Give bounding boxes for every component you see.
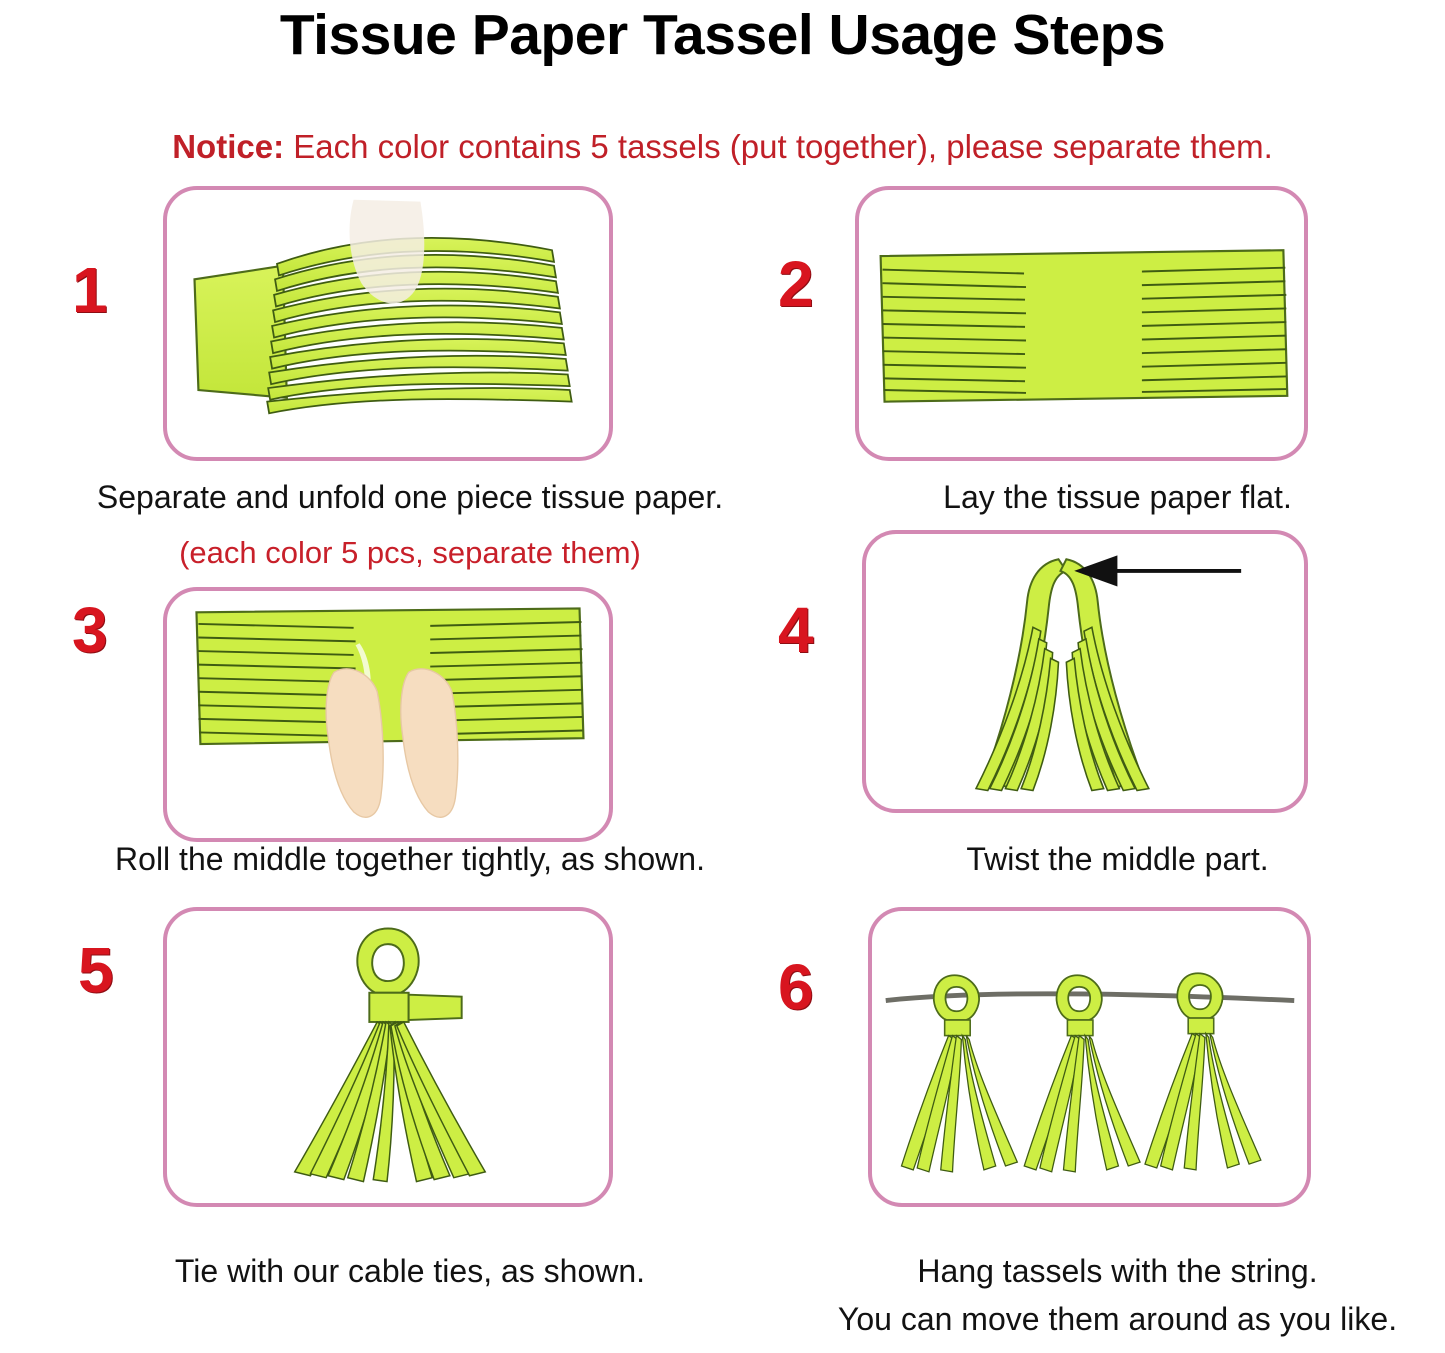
step-4-illustration-panel bbox=[862, 530, 1308, 813]
folded-tassel-with-loop-icon bbox=[866, 534, 1304, 809]
step-1-sub-caption: (each color 5 pcs, separate them) bbox=[0, 534, 820, 572]
notice-line: Notice: Each color contains 5 tassels (p… bbox=[0, 128, 1445, 166]
flat-fringed-paper-icon bbox=[859, 190, 1304, 457]
right-hand-icon bbox=[401, 669, 458, 817]
step-number-6: 6 bbox=[778, 955, 814, 1019]
step-number-3: 3 bbox=[72, 598, 108, 662]
notice-label: Notice: bbox=[172, 128, 284, 165]
tied-tassel-icon bbox=[167, 911, 609, 1203]
step-number-2: 2 bbox=[778, 252, 814, 316]
step-number-4: 4 bbox=[778, 598, 814, 662]
step-6-illustration-panel bbox=[868, 907, 1311, 1207]
step-2-illustration-panel bbox=[855, 186, 1308, 461]
step-2-caption: Lay the tissue paper flat. bbox=[790, 478, 1445, 517]
step-3-illustration-panel bbox=[163, 587, 613, 842]
instruction-sheet: Tissue Paper Tassel Usage Steps Notice: … bbox=[0, 0, 1445, 1353]
step-3-caption: Roll the middle together tightly, as sho… bbox=[0, 840, 820, 879]
tassel-1 bbox=[901, 975, 1017, 1172]
left-arrow-icon bbox=[1074, 555, 1241, 586]
tassel-3 bbox=[1145, 973, 1261, 1170]
page-title: Tissue Paper Tassel Usage Steps bbox=[0, 2, 1445, 68]
step-5-illustration-panel bbox=[163, 907, 613, 1207]
step-number-1: 1 bbox=[72, 258, 108, 322]
fringed-tissue-paper-icon bbox=[167, 190, 609, 457]
left-hand-icon bbox=[326, 669, 383, 817]
hands-rolling-paper-icon bbox=[167, 591, 609, 838]
step-1-illustration-panel bbox=[163, 186, 613, 461]
step-1-caption: Separate and unfold one piece tissue pap… bbox=[0, 478, 820, 517]
step-6-caption: Hang tassels with the string. bbox=[790, 1252, 1445, 1291]
notice-text: Each color contains 5 tassels (put toget… bbox=[284, 128, 1273, 165]
cable-tie-icon bbox=[369, 993, 461, 1022]
step-4-caption: Twist the middle part. bbox=[790, 840, 1445, 879]
tassel-2 bbox=[1024, 975, 1140, 1172]
step-6-caption-line2: You can move them around as you like. bbox=[790, 1300, 1445, 1339]
step-number-5: 5 bbox=[78, 938, 114, 1002]
hanging-tassels-icon bbox=[872, 911, 1307, 1203]
step-5-caption: Tie with our cable ties, as shown. bbox=[0, 1252, 820, 1291]
